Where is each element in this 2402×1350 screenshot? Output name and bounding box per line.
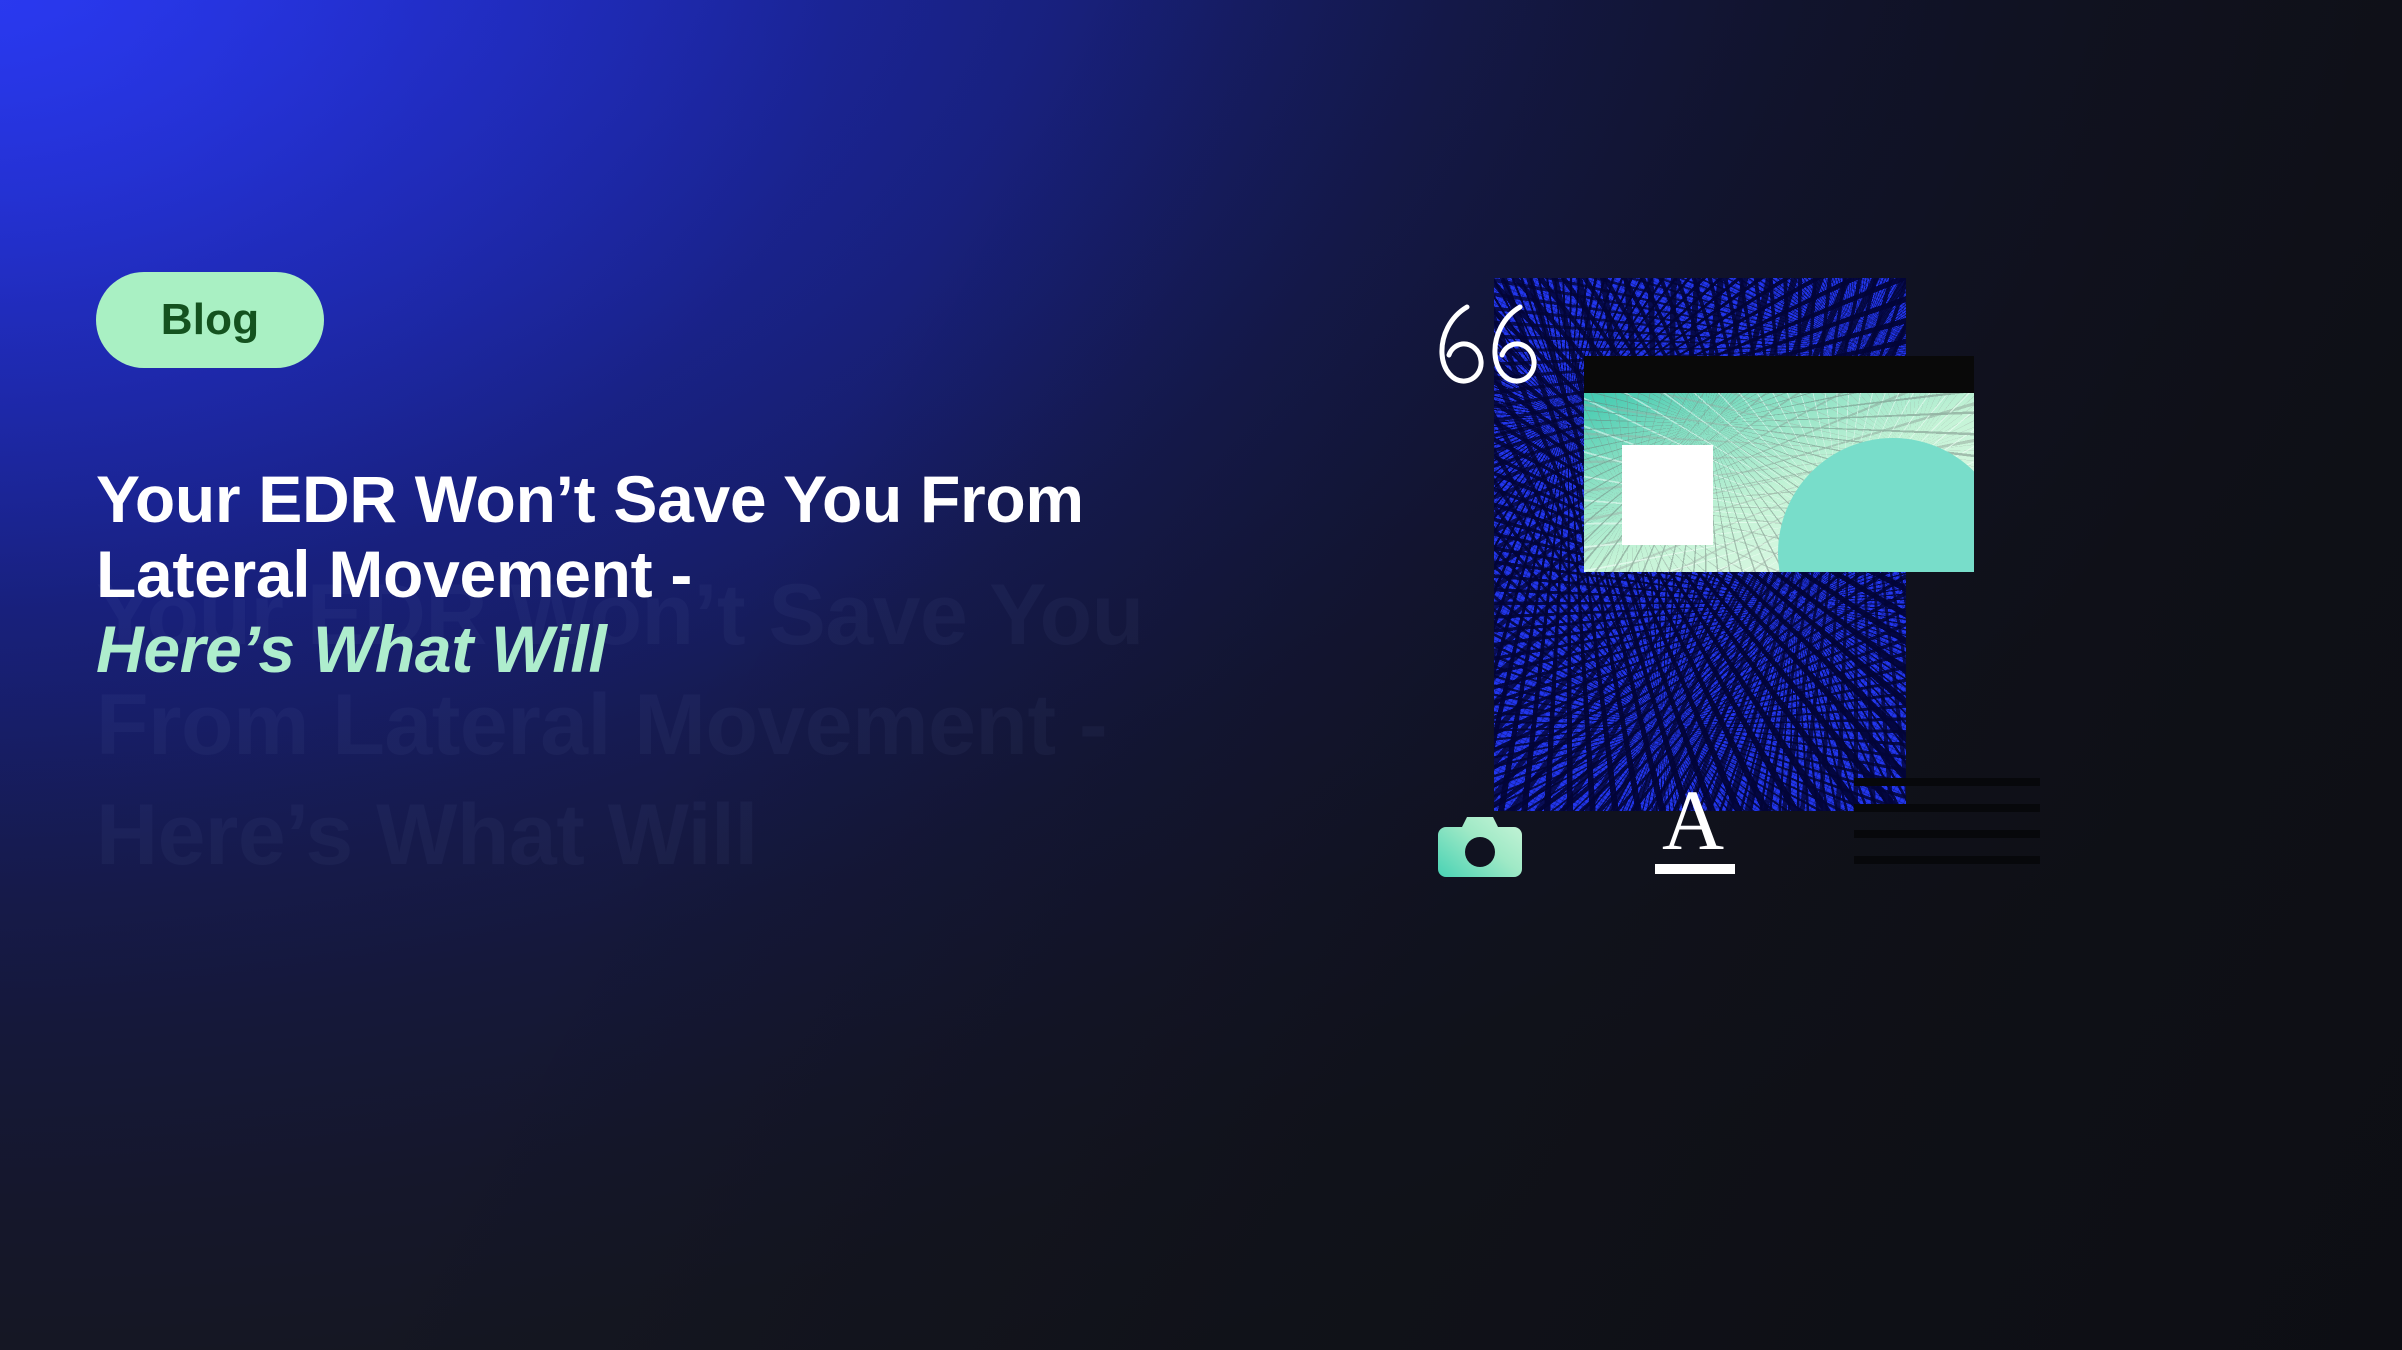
hero-content: Blog Your EDR Won’t Save You From Latera… bbox=[96, 272, 1356, 732]
page-title-emphasis: Here’s What Will bbox=[96, 612, 1316, 687]
camera-icon bbox=[1436, 811, 1524, 883]
window-content-area bbox=[1584, 393, 1974, 572]
page-title-line-2: Lateral Movement - bbox=[96, 537, 1316, 612]
letter-a-underline bbox=[1655, 864, 1735, 874]
text-rule-line bbox=[1854, 856, 2040, 864]
text-rule-group bbox=[1854, 778, 2040, 888]
image-window-card bbox=[1584, 356, 1974, 572]
page-title-line-1: Your EDR Won’t Save You From bbox=[96, 462, 1316, 537]
page-title: Your EDR Won’t Save You From Lateral Mov… bbox=[96, 462, 1316, 688]
letter-a-glyph: A bbox=[1633, 777, 1753, 863]
white-square-shape bbox=[1622, 445, 1713, 545]
hero-illustration: A bbox=[1440, 250, 2320, 1110]
hero-card: Your EDR Won’t Save You From Lateral Mov… bbox=[0, 0, 2402, 1350]
text-rule-line bbox=[1854, 830, 2040, 838]
text-rule-line bbox=[1854, 804, 2040, 812]
text-rule-line bbox=[1854, 778, 2040, 786]
category-badge-label: Blog bbox=[161, 298, 260, 342]
window-title-bar bbox=[1584, 356, 1974, 393]
category-badge-blog[interactable]: Blog bbox=[96, 272, 324, 368]
